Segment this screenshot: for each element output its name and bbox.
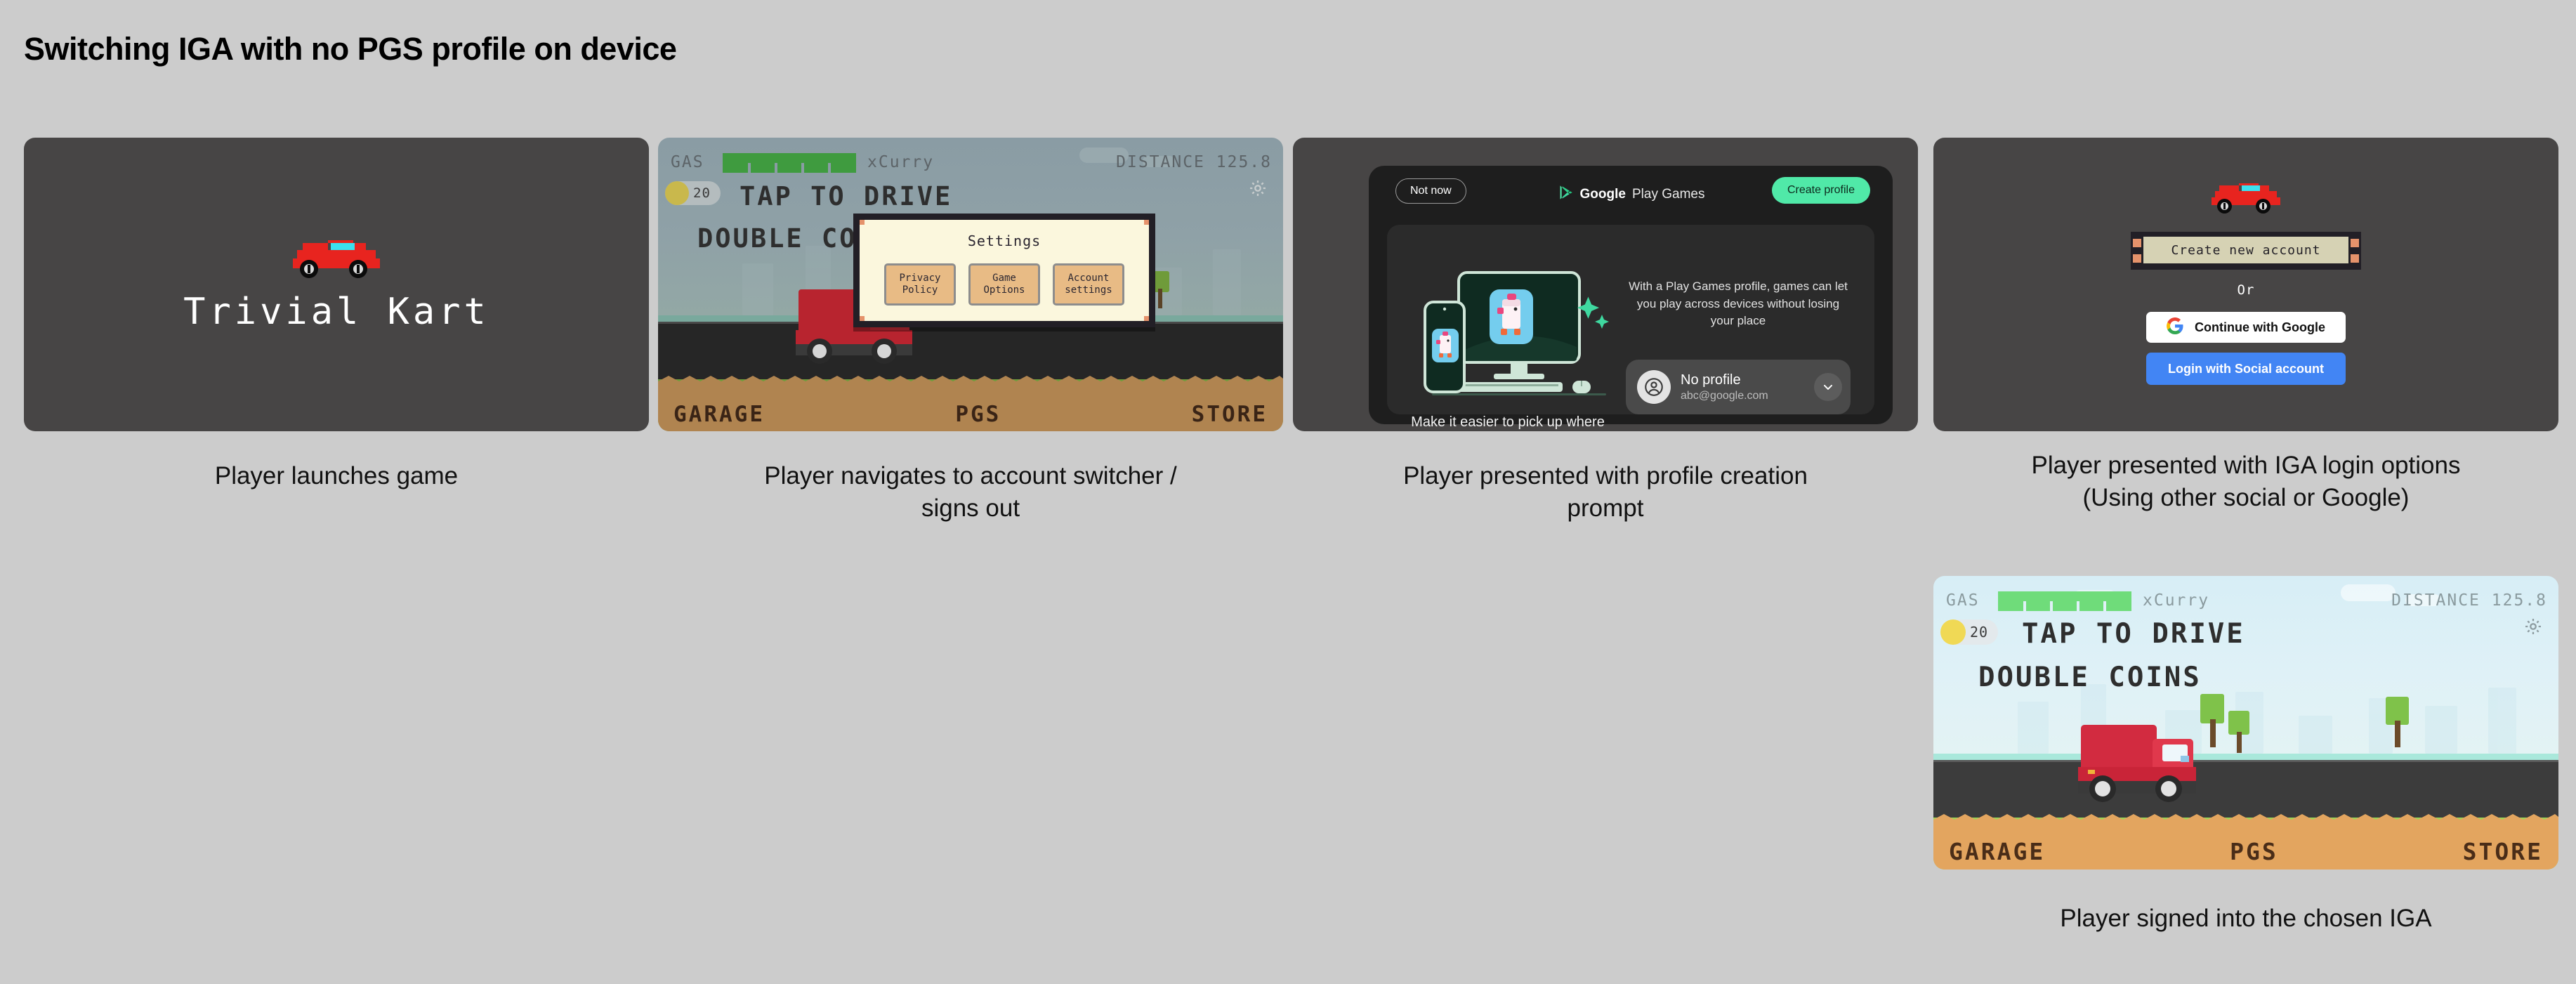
or-separator-label: Or xyxy=(2237,282,2255,298)
game-options-button[interactable]: Game Options xyxy=(968,263,1040,306)
iga-login-content: Create new account Or Continue with Goog… xyxy=(1933,180,2558,385)
profile-text: No profile abc@google.com xyxy=(1681,372,1804,402)
profile-name: No profile xyxy=(1681,372,1804,388)
car-name-label: xCurry xyxy=(2143,591,2209,610)
caption-step-5: Player signed into the chosen IGA xyxy=(1933,903,2558,935)
pgs-header: Not now Google Play Games Create profile xyxy=(1369,166,1893,216)
panel-account-switcher: GAS xCurry DISTANCE 125.8 20 TAP TO DRIV… xyxy=(658,138,1283,431)
tap-to-drive-line2: DOUBLE COINS xyxy=(1978,662,2202,693)
nav-garage[interactable]: GARAGE xyxy=(673,402,765,427)
slide-canvas: Switching IGA with no PGS profile on dev… xyxy=(0,0,2576,984)
play-games-brand: Google Play Games xyxy=(1557,184,1705,204)
profile-selector[interactable]: No profile abc@google.com xyxy=(1626,360,1851,414)
coin-count: 20 xyxy=(693,185,711,201)
tree-icon xyxy=(2199,694,2227,747)
create-new-account-label: Create new account xyxy=(2171,243,2320,258)
caption-step-3: Player presented with profile creation p… xyxy=(1293,460,1918,525)
game-screen-dimmed: GAS xCurry DISTANCE 125.8 20 TAP TO DRIV… xyxy=(658,138,1283,431)
login-with-social-button[interactable]: Login with Social account xyxy=(2146,353,2346,385)
pixel-car-icon xyxy=(290,236,383,280)
page-title: Switching IGA with no PGS profile on dev… xyxy=(24,31,676,67)
game-title: Trivial Kart xyxy=(183,291,489,333)
privacy-policy-button[interactable]: Privacy Policy xyxy=(884,263,956,306)
nav-pgs[interactable]: PGS xyxy=(955,402,1001,427)
profile-email: abc@google.com xyxy=(1681,390,1804,402)
chevron-down-icon[interactable] xyxy=(1814,373,1842,401)
panel-iga-login-options: Create new account Or Continue with Goog… xyxy=(1933,138,2558,431)
continue-with-google-label: Continue with Google xyxy=(2195,320,2325,335)
coin-counter: 20 xyxy=(665,181,721,205)
login-with-social-label: Login with Social account xyxy=(2168,362,2324,376)
nav-store[interactable]: STORE xyxy=(1192,402,1268,427)
settings-dialog-title: Settings xyxy=(860,232,1149,249)
google-g-icon xyxy=(2167,317,2183,338)
tap-to-drive-line1: TAP TO DRIVE xyxy=(2022,618,2245,650)
nav-garage[interactable]: GARAGE xyxy=(1949,838,2045,865)
gas-label: GAS xyxy=(1946,591,1980,610)
caption-step-4: Player presented with IGA login options … xyxy=(1933,450,2558,514)
nav-store[interactable]: STORE xyxy=(2463,838,2543,865)
zigzag-edge xyxy=(658,376,1283,387)
caption-step-1: Player launches game xyxy=(24,460,649,492)
distance-label: DISTANCE 125.8 xyxy=(1116,153,1272,171)
nav-pgs[interactable]: PGS xyxy=(2230,838,2278,865)
create-profile-button[interactable]: Create profile xyxy=(1772,177,1870,204)
tree-icon xyxy=(2227,711,2251,752)
caption-step-2: Player navigates to account switcher / s… xyxy=(658,460,1283,525)
profile-description: With a Play Games profile, games can let… xyxy=(1626,278,1851,330)
brand-word-play-games: Play Games xyxy=(1632,187,1704,202)
settings-dialog-buttons: Privacy Policy Game Options Account sett… xyxy=(860,263,1149,306)
create-new-account-button[interactable]: Create new account xyxy=(2143,232,2348,270)
pgs-body: Make it easier to pick up where you left… xyxy=(1387,225,1874,414)
settings-dialog: Settings Privacy Policy Game Options Acc… xyxy=(853,214,1155,327)
devices-chicken-illustration xyxy=(1415,268,1626,416)
panel-signed-in-game: GAS xCurry DISTANCE 125.8 20 TAP TO DRIV… xyxy=(1933,576,2558,870)
cloud-icon xyxy=(2341,584,2396,601)
play-games-icon xyxy=(1557,184,1574,204)
not-now-button[interactable]: Not now xyxy=(1395,178,1466,204)
truck-sprite xyxy=(2074,725,2200,803)
zigzag-edge xyxy=(1933,814,2558,825)
account-circle-icon xyxy=(1637,370,1671,404)
coin-count: 20 xyxy=(1970,624,1988,641)
account-settings-button[interactable]: Account settings xyxy=(1053,263,1124,306)
gas-label: GAS xyxy=(671,153,704,171)
bottom-nav: GARAGE PGS STORE xyxy=(1933,838,2558,865)
gear-icon[interactable] xyxy=(2523,617,2543,636)
game-screen: GAS xCurry DISTANCE 125.8 20 TAP TO DRIV… xyxy=(1933,576,2558,870)
distance-label: DISTANCE 125.8 xyxy=(2391,591,2547,610)
panel-game-splash: Trivial Kart xyxy=(24,138,649,431)
gas-bar xyxy=(723,153,856,173)
grass-strip xyxy=(1933,754,2558,760)
road xyxy=(1933,760,2558,818)
bottom-nav: GARAGE PGS STORE xyxy=(658,402,1283,427)
coin-icon xyxy=(665,181,689,205)
panel-profile-creation-prompt: Not now Google Play Games Create profile xyxy=(1293,138,1918,431)
road xyxy=(658,322,1283,379)
splash-content: Trivial Kart xyxy=(24,236,649,333)
tree-icon xyxy=(2384,697,2411,747)
coin-icon xyxy=(1940,619,1966,645)
tap-to-drive-line1: TAP TO DRIVE xyxy=(740,181,952,211)
gear-icon[interactable] xyxy=(1248,178,1268,198)
gas-bar xyxy=(1998,591,2131,611)
continue-with-google-button[interactable]: Continue with Google xyxy=(2146,312,2346,343)
pgs-overlay-card: Not now Google Play Games Create profile xyxy=(1369,166,1893,424)
coin-counter: 20 xyxy=(1940,619,1998,645)
illustration-caption: Make it easier to pick up where you left… xyxy=(1402,413,1613,431)
brand-word-google: Google xyxy=(1580,187,1626,202)
pixel-car-icon xyxy=(2209,180,2282,215)
car-name-label: xCurry xyxy=(867,153,934,171)
